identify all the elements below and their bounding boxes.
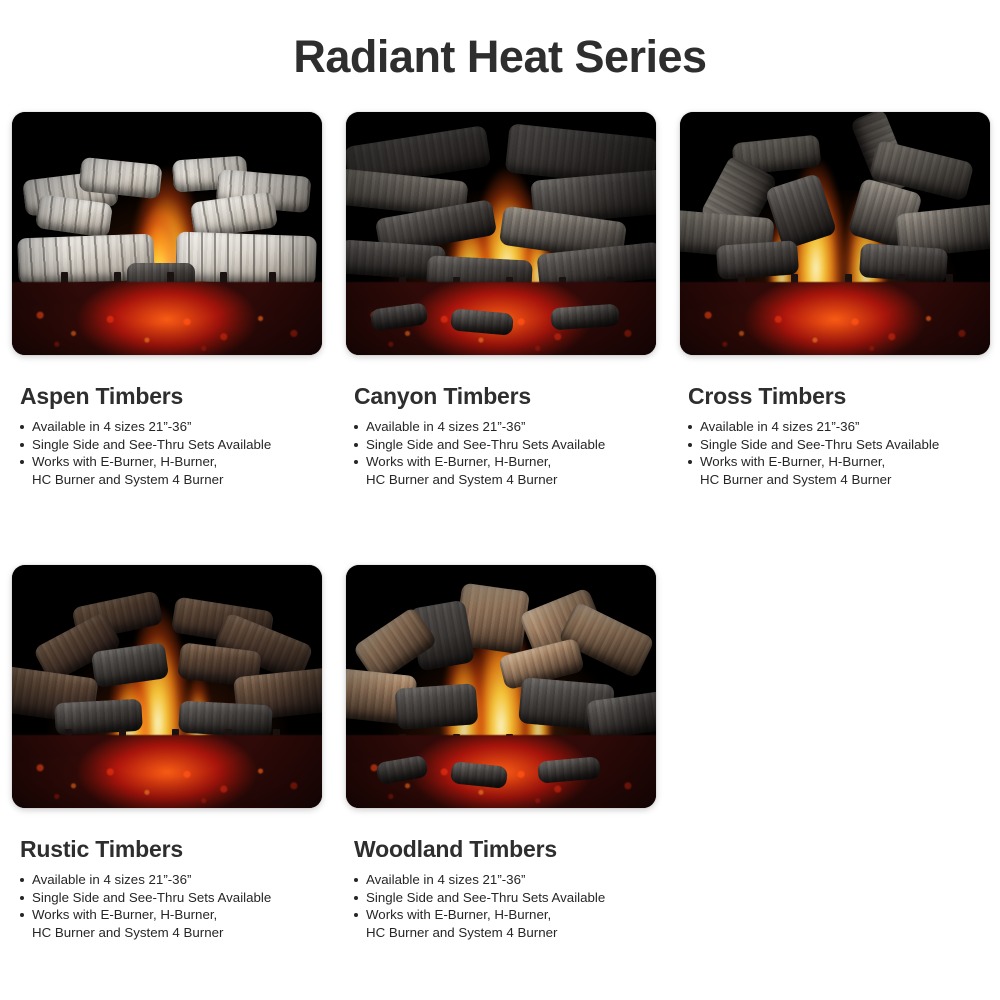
product-card-rustic-timbers[interactable]: Rustic Timbers Available in 4 sizes 21”-… [12, 565, 322, 942]
list-item: Works with E-Burner, H-Burner, HC Burner… [688, 453, 990, 488]
card-title-woodland-timbers: Woodland Timbers [354, 837, 656, 862]
product-image-aspen-timbers[interactable] [12, 112, 322, 355]
card-title-canyon-timbers: Canyon Timbers [354, 384, 656, 409]
product-card-canyon-timbers[interactable]: Canyon Timbers Available in 4 sizes 21”-… [346, 112, 656, 489]
ember-bed [680, 282, 990, 355]
list-item: Works with E-Burner, H-Burner, HC Burner… [20, 906, 322, 941]
list-item: Available in 4 sizes 21”-36” [354, 871, 656, 889]
log-shape [175, 231, 316, 284]
list-item: Single Side and See-Thru Sets Available [688, 436, 990, 454]
ember-bed [12, 735, 322, 808]
product-image-rustic-timbers[interactable] [12, 565, 322, 808]
product-card-aspen-timbers[interactable]: Aspen Timbers Available in 4 sizes 21”-3… [12, 112, 322, 489]
product-image-cross-timbers[interactable] [680, 112, 990, 355]
list-item: Available in 4 sizes 21”-36” [354, 418, 656, 436]
list-item: Single Side and See-Thru Sets Available [354, 436, 656, 454]
log-shape [716, 240, 799, 280]
ember-bed [12, 282, 322, 355]
product-image-woodland-timbers[interactable] [346, 565, 656, 808]
card-title-cross-timbers: Cross Timbers [688, 384, 990, 409]
product-row-1: Aspen Timbers Available in 4 sizes 21”-3… [12, 112, 1000, 489]
product-card-empty-slot [680, 565, 990, 942]
fireplace-scene-cross [680, 112, 990, 355]
card-title-aspen-timbers: Aspen Timbers [20, 384, 322, 409]
feature-list-canyon-timbers: Available in 4 sizes 21”-36” Single Side… [354, 418, 656, 488]
list-item: Available in 4 sizes 21”-36” [20, 871, 322, 889]
product-card-woodland-timbers[interactable]: Woodland Timbers Available in 4 sizes 21… [346, 565, 656, 942]
card-title-rustic-timbers: Rustic Timbers [20, 837, 322, 862]
feature-list-aspen-timbers: Available in 4 sizes 21”-36” Single Side… [20, 418, 322, 488]
list-item: Single Side and See-Thru Sets Available [354, 889, 656, 907]
list-item: Available in 4 sizes 21”-36” [20, 418, 322, 436]
product-row-2: Rustic Timbers Available in 4 sizes 21”-… [12, 565, 1000, 942]
list-item: Available in 4 sizes 21”-36” [688, 418, 990, 436]
list-item: Works with E-Burner, H-Burner, HC Burner… [354, 906, 656, 941]
fireplace-scene-rustic [12, 565, 322, 808]
list-item: Works with E-Burner, H-Burner, HC Burner… [20, 453, 322, 488]
feature-list-woodland-timbers: Available in 4 sizes 21”-36” Single Side… [354, 871, 656, 941]
page-title: Radiant Heat Series [0, 0, 1000, 80]
fireplace-scene-aspen [12, 112, 322, 355]
product-image-canyon-timbers[interactable] [346, 112, 656, 355]
log-shape [394, 683, 477, 730]
feature-list-rustic-timbers: Available in 4 sizes 21”-36” Single Side… [20, 871, 322, 941]
list-item: Works with E-Burner, H-Burner, HC Burner… [354, 453, 656, 488]
list-item: Single Side and See-Thru Sets Available [20, 889, 322, 907]
list-item: Single Side and See-Thru Sets Available [20, 436, 322, 454]
fireplace-scene-canyon [346, 112, 656, 355]
feature-list-cross-timbers: Available in 4 sizes 21”-36” Single Side… [688, 418, 990, 488]
product-card-cross-timbers[interactable]: Cross Timbers Available in 4 sizes 21”-3… [680, 112, 990, 489]
product-grid: Aspen Timbers Available in 4 sizes 21”-3… [12, 112, 1000, 941]
fireplace-scene-woodland [346, 565, 656, 808]
